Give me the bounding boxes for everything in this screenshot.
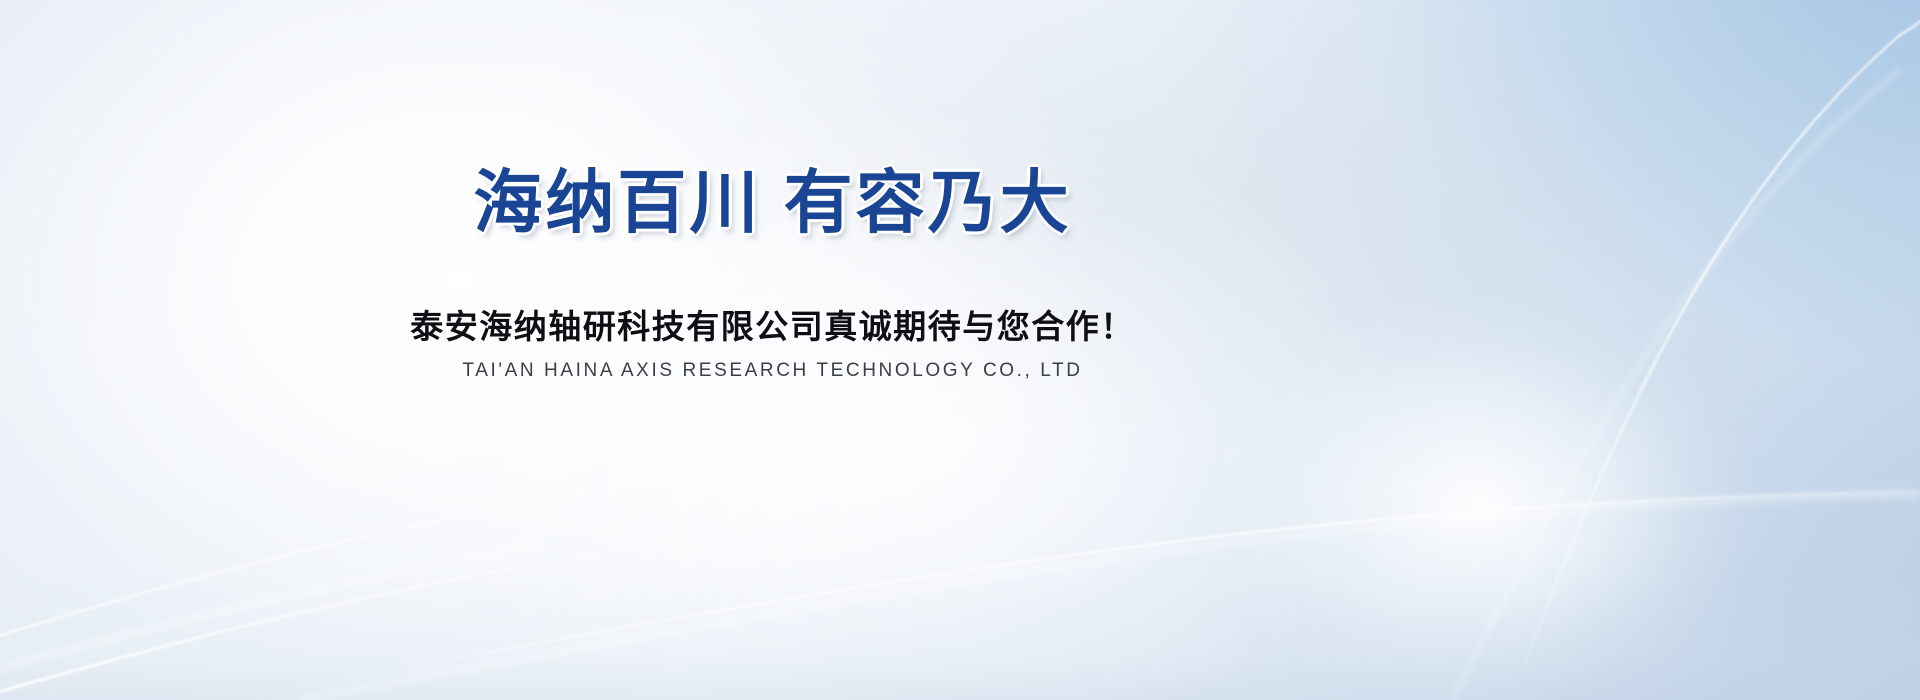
- company-tagline-cn: 泰安海纳轴研科技有限公司真诚期待与您合作！: [410, 310, 1135, 343]
- arc-curve-top-right: [1512, 20, 1920, 700]
- company-name-en: TAI'AN HAINA AXIS RESEARCH TECHNOLOGY CO…: [462, 361, 1082, 380]
- banner-content: 海纳百川 有容乃大 泰安海纳轴研科技有限公司真诚期待与您合作！ TAI'AN H…: [0, 0, 1545, 700]
- page-title: 海纳百川 有容乃大: [473, 168, 1071, 237]
- hero-banner: 海纳百川 有容乃大 泰安海纳轴研科技有限公司真诚期待与您合作！ TAI'AN H…: [0, 0, 1920, 700]
